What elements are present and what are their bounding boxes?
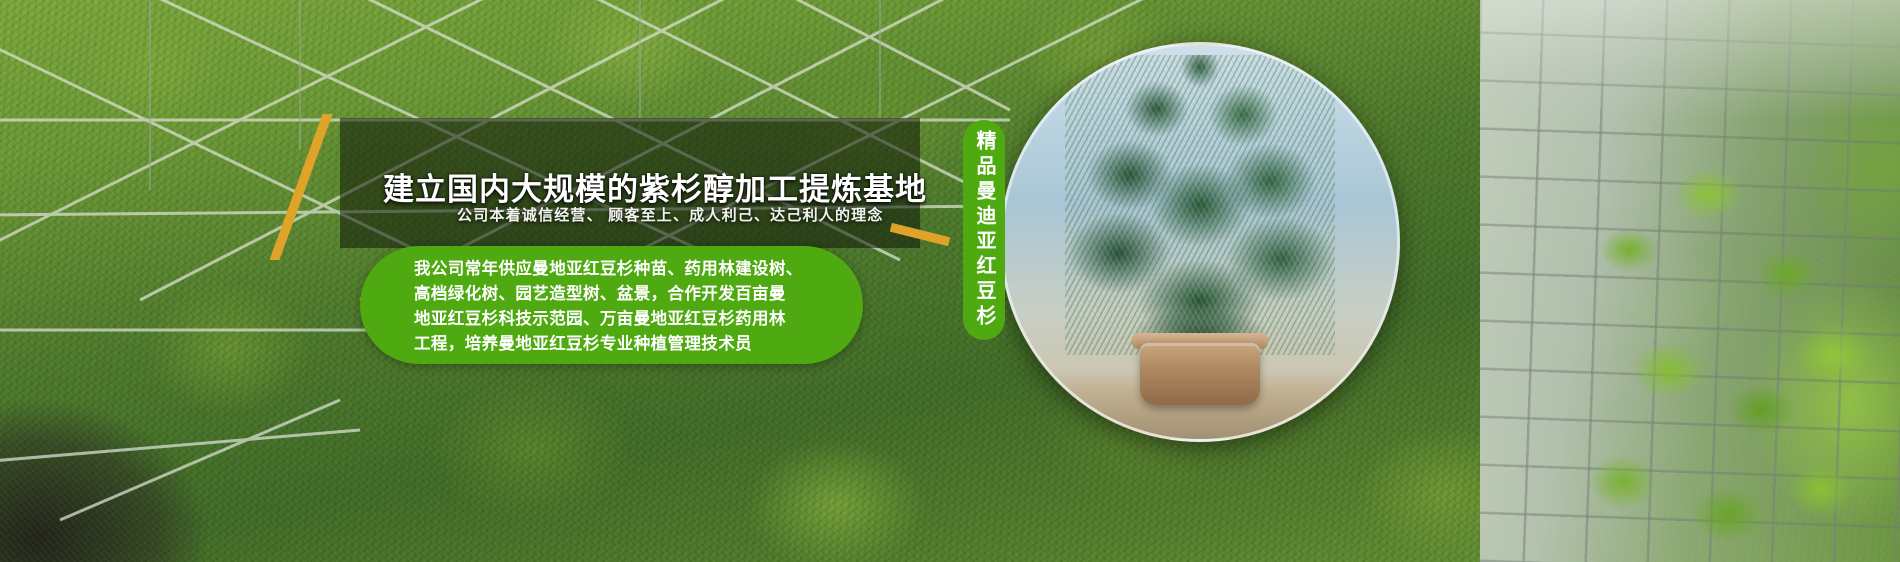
product-caption-text: 精品曼迪亚红豆杉: [974, 130, 994, 330]
flower-pot: [1140, 343, 1260, 405]
description-line-4: 工程，培养曼地亚红豆杉专业种植管理技术员: [414, 332, 844, 357]
description-text: 我公司常年供应曼地亚红豆杉种苗、药用林建设树、 高档绿化树、园艺造型树、盆景，合…: [414, 257, 844, 357]
description-line-3: 地亚红豆杉科技示范园、万亩曼地亚红豆杉药用林: [414, 307, 844, 332]
promo-banner: 建立国内大规模的紫杉醇加工提炼基地 公司本着诚信经营、 顾客至上、成人利己、达己…: [0, 0, 1900, 562]
banner-headline: 建立国内大规模的紫杉醇加工提炼基地: [383, 164, 927, 209]
banner-subheadline: 公司本着诚信经营、 顾客至上、成人利己、达己利人的理念: [457, 204, 884, 225]
product-photo-circle: [1000, 42, 1400, 442]
greenhouse-photo: [1480, 0, 1900, 562]
yew-needle-texture: [1065, 55, 1335, 355]
description-line-2: 高档绿化树、园艺造型树、盆景，合作开发百亩曼: [414, 282, 844, 307]
product-caption-pill: 精品曼迪亚红豆杉: [963, 120, 1005, 340]
greenhouse-roof: [1480, 0, 1900, 120]
description-line-1: 我公司常年供应曼地亚红豆杉种苗、药用林建设树、: [414, 257, 844, 282]
grape-vine-foliage: [1570, 162, 1900, 562]
yew-tree: [1065, 55, 1335, 355]
